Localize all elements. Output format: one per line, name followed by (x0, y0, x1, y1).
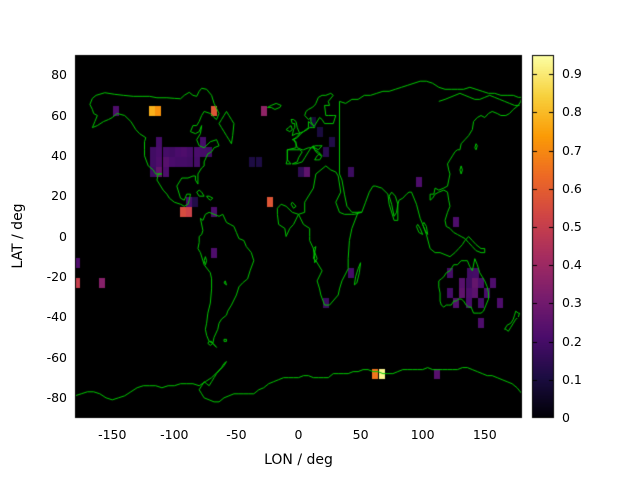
y-tick-label: -60 (21, 350, 67, 365)
colorbar-tick-label: 0.6 (562, 181, 602, 196)
x-tick-label: 100 (393, 427, 453, 442)
x-tick-label: -100 (144, 427, 204, 442)
x-tick-label: -150 (82, 427, 142, 442)
x-tick-label: -50 (206, 427, 266, 442)
colorbar-tick-label: 0.9 (562, 66, 602, 81)
colorbar-tick-label: 0 (562, 410, 602, 425)
world-map-heatmap (0, 0, 640, 480)
y-tick-label: 40 (21, 148, 67, 163)
y-tick-label: -80 (21, 390, 67, 405)
colorbar-tick-label: 0.5 (562, 219, 602, 234)
y-tick-label: -20 (21, 269, 67, 284)
colorbar-tick-label: 0.7 (562, 143, 602, 158)
colorbar-tick-label: 0.4 (562, 257, 602, 272)
colorbar-tick-label: 0.8 (562, 104, 602, 119)
colorbar-tick-label: 0.1 (562, 372, 602, 387)
colorbar-tick-label: 0.2 (562, 334, 602, 349)
x-tick-label: 0 (269, 427, 329, 442)
y-tick-label: 60 (21, 108, 67, 123)
colorbar-tick-label: 0.3 (562, 295, 602, 310)
y-tick-label: 0 (21, 229, 67, 244)
x-tick-label: 150 (455, 427, 515, 442)
figure-container: SRMTID / TECU 2022-301_10350-2022-301_11… (0, 0, 640, 480)
y-tick-label: 80 (21, 67, 67, 82)
x-axis-label: LON / deg (75, 452, 522, 468)
y-tick-label: 20 (21, 188, 67, 203)
y-tick-label: -40 (21, 309, 67, 324)
x-tick-label: 50 (331, 427, 391, 442)
